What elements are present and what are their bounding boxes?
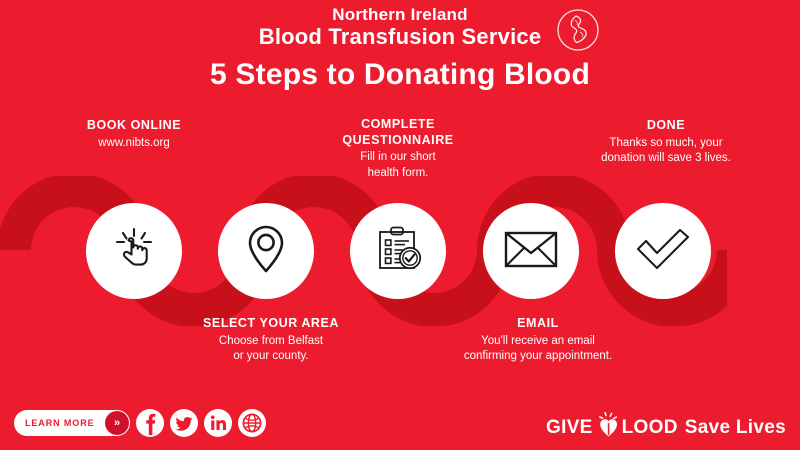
page-title: 5 Steps to Donating Blood — [0, 58, 800, 92]
chevron-double-right-icon: » — [105, 411, 129, 435]
step-title-4: EMAIL — [428, 316, 648, 332]
step-title-2: SELECT YOUR AREA — [176, 316, 366, 332]
step-desc-1: www.nibts.org — [44, 136, 224, 152]
brand-line-2: Blood Transfusion Service — [259, 25, 542, 48]
twitter-icon[interactable] — [170, 409, 198, 437]
facebook-icon[interactable] — [136, 409, 164, 437]
step-circle-3[interactable] — [350, 203, 446, 299]
organisation-branding: Northern Ireland Blood Transfusion Servi… — [0, 6, 800, 49]
envelope-icon — [503, 228, 559, 275]
learn-more-button[interactable]: LEARN MORE » — [14, 410, 130, 436]
nibts-circular-map-emblem — [555, 7, 601, 58]
step-desc-4: You'll receive an emailconfirming your a… — [428, 334, 648, 365]
click-hand-icon — [109, 224, 159, 279]
step-desc-2: Choose from Belfastor your county. — [176, 334, 366, 365]
step-circle-1[interactable] — [86, 203, 182, 299]
step-caption-1: BOOK ONLINE www.nibts.org — [44, 118, 224, 151]
step-caption-4: EMAIL You'll receive an emailconfirming … — [428, 316, 648, 365]
infographic-canvas: Northern Ireland Blood Transfusion Servi… — [0, 0, 800, 450]
tagline-blood-rest: LOOD — [622, 417, 678, 439]
step-circle-2[interactable] — [218, 203, 314, 299]
step-title-3: COMPLETEQUESTIONNAIRE — [308, 117, 488, 148]
step-desc-3: Fill in our shorthealth form. — [308, 150, 488, 181]
step-caption-2: SELECT YOUR AREA Choose from Belfastor y… — [176, 316, 366, 365]
map-pin-icon — [241, 223, 291, 280]
linkedin-icon[interactable] — [204, 409, 232, 437]
checkmark-icon — [634, 226, 692, 277]
learn-more-label: LEARN MORE — [25, 418, 95, 428]
brand-text-wrap: Northern Ireland Blood Transfusion Servi… — [259, 6, 542, 48]
website-globe-icon[interactable] — [238, 409, 266, 437]
step-desc-5: Thanks so much, yourdonation will save 3… — [556, 136, 776, 167]
step-caption-5: DONE Thanks so much, yourdonation will s… — [556, 118, 776, 167]
tagline-save-lives: Save Lives — [685, 417, 786, 439]
brand-line-1: Northern Ireland — [259, 6, 542, 24]
step-circle-4[interactable] — [483, 203, 579, 299]
step-title-5: DONE — [556, 118, 776, 134]
heart-b-icon — [597, 412, 621, 443]
step-circle-5[interactable] — [615, 203, 711, 299]
tagline-give: GIVE — [546, 417, 593, 439]
step-caption-3: COMPLETEQUESTIONNAIRE Fill in our shorth… — [308, 117, 488, 181]
footer-bar: LEARN MORE » — [0, 404, 800, 450]
give-blood-save-lives-tagline: GIVE LOOD Save Lives — [546, 412, 786, 443]
clipboard-checklist-icon — [371, 222, 425, 281]
step-title-1: BOOK ONLINE — [44, 118, 224, 134]
